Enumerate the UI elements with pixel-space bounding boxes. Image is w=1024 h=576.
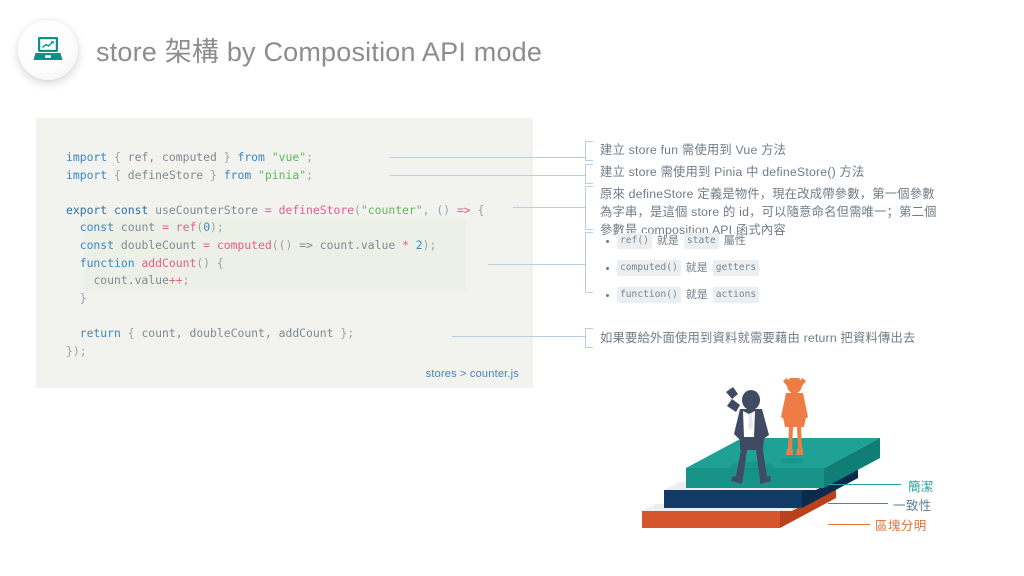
layer-label-simple: 簡潔 [908,476,934,495]
bullet-middle-3: 就是 [686,288,708,302]
bullet-code-1: ref() [617,233,652,249]
bullet-tail-1: 屬性 [724,234,746,248]
leader-line-3 [513,207,585,208]
slide: store 架構 by Composition API mode import … [0,0,1024,576]
code-panel: import { ref, computed } from "vue"; imp… [36,118,533,388]
annotation-3: 原來 defineStore 定義是物件，現在改成帶參數，第一個參數 為字串，是… [600,185,970,239]
bracket-3 [585,186,593,230]
layer-leader-line-2 [828,503,888,504]
layer-label-consistent: 一致性 [893,495,932,514]
leader-line-1 [390,157,585,158]
bracket-4 [585,232,593,293]
leader-line-5 [452,336,585,337]
list-item: function() 就是 actions [606,287,764,303]
bullet-list: ref() 就是 state 屬性 computed() 就是 getters … [606,233,764,314]
layer-label-modular: 區塊分明 [875,515,927,534]
bullet-middle-1: 就是 [657,234,679,248]
leader-line-4 [488,264,585,265]
laptop-chart-icon [18,20,78,80]
bracket-1 [585,141,593,161]
bracket-5 [585,328,593,348]
stacked-layers-illustration [640,378,900,563]
annotation-5: 如果要給外面使用到資料就需要藉由 return 把資料傳出去 [600,329,916,347]
bullet-code-3: function() [617,287,681,303]
annotation-2: 建立 store 需使用到 Pinia 中 defineStore() 方法 [600,163,865,181]
file-path-label: stores > counter.js [426,368,519,380]
bullet-code2-3: actions [713,287,759,303]
bullet-dot-icon [606,294,609,297]
bullet-code2-2: getters [713,260,759,276]
bullet-middle-2: 就是 [686,261,708,275]
code-block: import { ref, computed } from "vue"; imp… [66,149,484,360]
bracket-2 [585,164,593,184]
list-item: computed() 就是 getters [606,260,764,276]
layer-leader-line-3 [828,524,870,525]
bullet-code-2: computed() [617,260,681,276]
page-title: store 架構 by Composition API mode [96,30,542,69]
annotation-3-line-2: 為字串，是這個 store 的 id，可以隨意命名但需唯一；第二個 [600,203,970,221]
bullet-dot-icon [606,267,609,270]
bullet-dot-icon [606,240,609,243]
layer-leader-line-1 [828,484,901,485]
annotation-1: 建立 store fun 需使用到 Vue 方法 [600,141,786,159]
annotation-3-line-1: 原來 defineStore 定義是物件，現在改成帶參數，第一個參數 [600,185,970,203]
list-item: ref() 就是 state 屬性 [606,233,764,249]
leader-line-2 [390,175,585,176]
bullet-code2-1: state [684,233,719,249]
